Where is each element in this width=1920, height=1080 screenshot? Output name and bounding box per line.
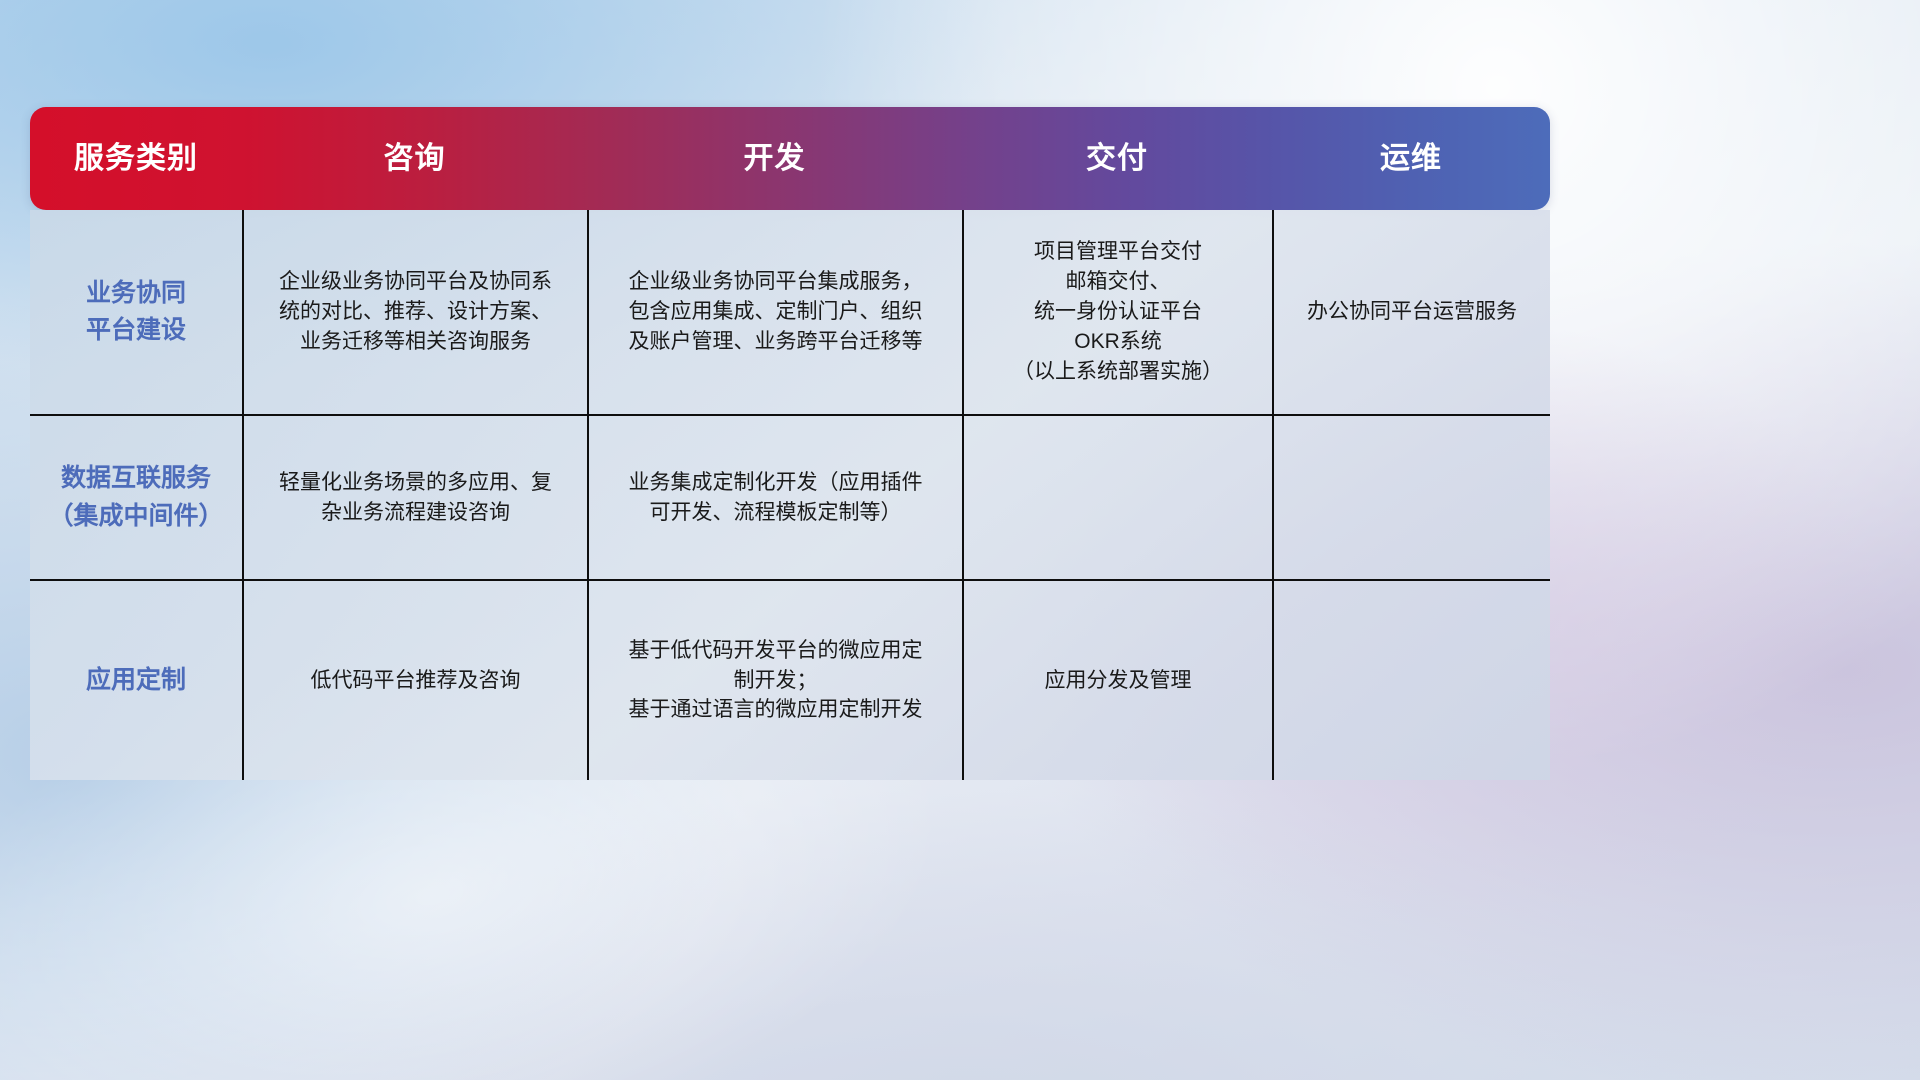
cell-development: 基于低代码开发平台的微应用定 制开发； 基于通过语言的微应用定制开发 (587, 581, 962, 780)
column-header-consulting: 咨询 (242, 144, 587, 174)
cell-consulting: 低代码平台推荐及咨询 (242, 581, 587, 780)
table-row: 业务协同 平台建设 企业级业务协同平台及协同系 统的对比、推荐、设计方案、 业务… (30, 210, 1550, 416)
cell-consulting: 企业级业务协同平台及协同系 统的对比、推荐、设计方案、 业务迁移等相关咨询服务 (242, 210, 587, 414)
row-category-label: 数据互联服务 （集成中间件） (30, 416, 242, 579)
table-row: 数据互联服务 （集成中间件） 轻量化业务场景的多应用、复 杂业务流程建设咨询 业… (30, 416, 1550, 581)
cell-delivery: 项目管理平台交付 邮箱交付、 统一身份认证平台 OKR系统 （以上系统部署实施） (962, 210, 1272, 414)
cell-development: 业务集成定制化开发（应用插件 可开发、流程模板定制等） (587, 416, 962, 579)
cell-delivery (962, 416, 1272, 579)
cell-consulting: 轻量化业务场景的多应用、复 杂业务流程建设咨询 (242, 416, 587, 579)
cell-development: 企业级业务协同平台集成服务， 包含应用集成、定制门户、组织 及账户管理、业务跨平… (587, 210, 962, 414)
column-header-development: 开发 (587, 144, 962, 174)
service-matrix-table: 服务类别 咨询 开发 交付 运维 业务协同 平台建设 企业级业务协同平台及协同系… (30, 107, 1550, 780)
column-header-category: 服务类别 (30, 144, 242, 174)
cell-operations (1272, 581, 1550, 780)
table-row: 应用定制 低代码平台推荐及咨询 基于低代码开发平台的微应用定 制开发； 基于通过… (30, 581, 1550, 780)
cell-operations (1272, 416, 1550, 579)
row-category-label: 业务协同 平台建设 (30, 210, 242, 414)
table-header-row: 服务类别 咨询 开发 交付 运维 (30, 107, 1550, 210)
cell-operations: 办公协同平台运营服务 (1272, 210, 1550, 414)
row-category-label: 应用定制 (30, 581, 242, 780)
column-header-delivery: 交付 (962, 144, 1272, 174)
column-header-operations: 运维 (1272, 144, 1550, 174)
cell-delivery: 应用分发及管理 (962, 581, 1272, 780)
table-body: 业务协同 平台建设 企业级业务协同平台及协同系 统的对比、推荐、设计方案、 业务… (30, 210, 1550, 780)
